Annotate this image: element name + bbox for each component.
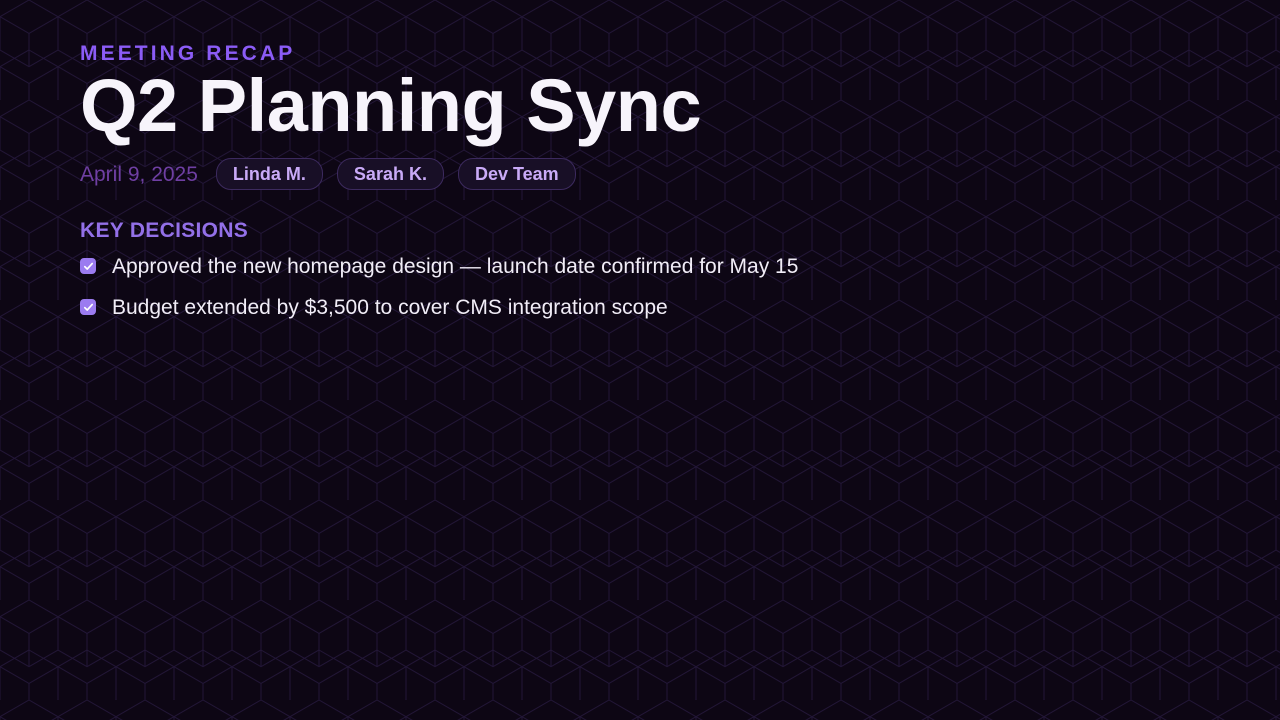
- attendee-chip-1[interactable]: Linda M.: [216, 158, 323, 190]
- meeting-date: April 9, 2025: [80, 164, 198, 185]
- attendee-chip-2[interactable]: Sarah K.: [337, 158, 444, 190]
- attendee-chip-3[interactable]: Dev Team: [458, 158, 576, 190]
- list-item[interactable]: Budget extended by $3,500 to cover CMS i…: [80, 293, 1200, 322]
- meeting-meta-row: April 9, 2025 Linda M. Sarah K. Dev Team: [80, 159, 1200, 189]
- decision-text: Approved the new homepage design — launc…: [112, 252, 798, 281]
- checkbox-checked-icon[interactable]: [80, 258, 96, 274]
- key-decisions-list: Approved the new homepage design — launc…: [80, 252, 1200, 322]
- checkbox-checked-icon[interactable]: [80, 299, 96, 315]
- list-item[interactable]: Approved the new homepage design — launc…: [80, 252, 1200, 281]
- page-title: Q2 Planning Sync: [80, 69, 1200, 143]
- eyebrow-label: MEETING RECAP: [80, 42, 1200, 65]
- meeting-recap-page: MEETING RECAP Q2 Planning Sync April 9, …: [0, 0, 1280, 720]
- page-header: MEETING RECAP Q2 Planning Sync April 9, …: [80, 42, 1200, 189]
- key-decisions-section: KEY DECISIONS Approved the new homepage …: [80, 219, 1200, 322]
- section-heading-key-decisions: KEY DECISIONS: [80, 219, 1200, 242]
- decision-text: Budget extended by $3,500 to cover CMS i…: [112, 293, 668, 322]
